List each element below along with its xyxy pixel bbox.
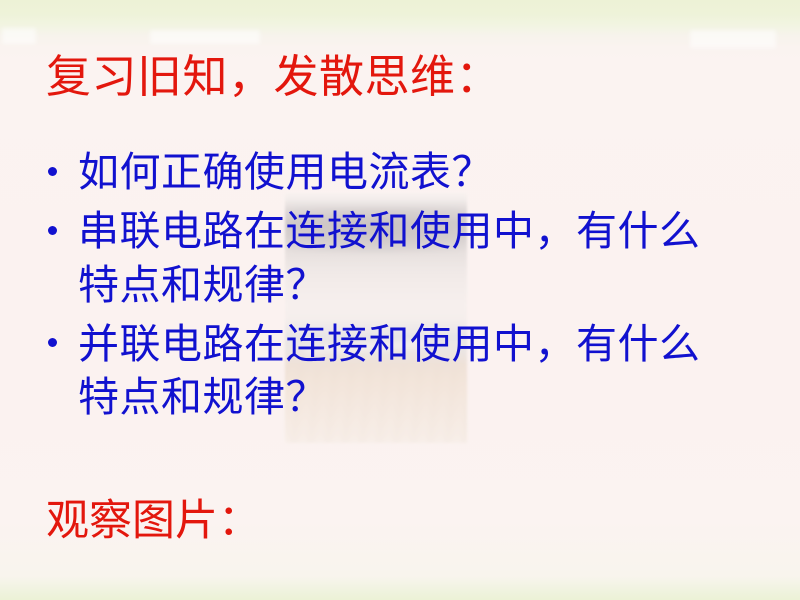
closing-prompt: 观察图片： — [46, 498, 261, 545]
bullet-item: 如何正确使用电流表？ — [40, 146, 760, 199]
slide-content: 复习旧知，发散思维： 如何正确使用电流表？ 串联电路在连接和使用中，有什么特点和… — [0, 0, 800, 600]
bullet-dot-icon — [48, 167, 57, 176]
bullet-item-label: 如何正确使用电流表？ — [78, 146, 738, 199]
bullet-item: 并联电路在连接和使用中，有什么特点和规律？ — [40, 318, 760, 425]
bullet-list: 如何正确使用电流表？ 串联电路在连接和使用中，有什么特点和规律？ 并联电路在连接… — [40, 146, 760, 424]
bullet-item-label: 并联电路在连接和使用中，有什么特点和规律？ — [78, 318, 738, 425]
bullet-dot-icon — [48, 338, 57, 347]
bullet-item: 串联电路在连接和使用中，有什么特点和规律？ — [40, 205, 760, 312]
presentation-slide: 复习旧知，发散思维： 如何正确使用电流表？ 串联电路在连接和使用中，有什么特点和… — [0, 0, 800, 600]
bullet-item-label: 串联电路在连接和使用中，有什么特点和规律？ — [78, 205, 738, 312]
bullet-dot-icon — [48, 226, 57, 235]
slide-title: 复习旧知，发散思维： — [46, 52, 501, 102]
